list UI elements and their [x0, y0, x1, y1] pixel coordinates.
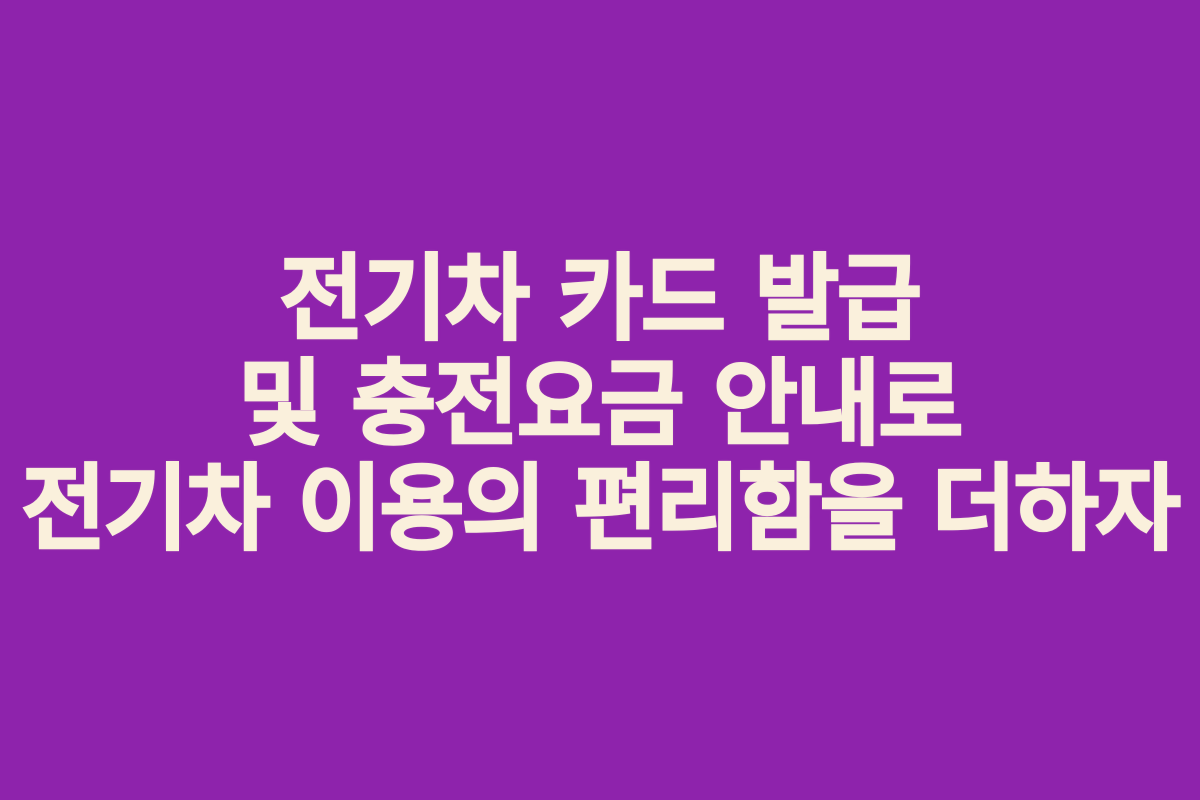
headline-line-3: 전기차 이용의 편리함을 더하자	[9, 457, 1191, 562]
headline-line-1: 전기차 카드 발급	[9, 247, 1191, 352]
headline-line-2: 및 충전요금 안내로	[9, 352, 1191, 457]
headline-block: 전기차 카드 발급 및 충전요금 안내로 전기차 이용의 편리함을 더하자	[0, 247, 1200, 562]
banner-canvas: 전기차 카드 발급 및 충전요금 안내로 전기차 이용의 편리함을 더하자	[0, 0, 1200, 800]
